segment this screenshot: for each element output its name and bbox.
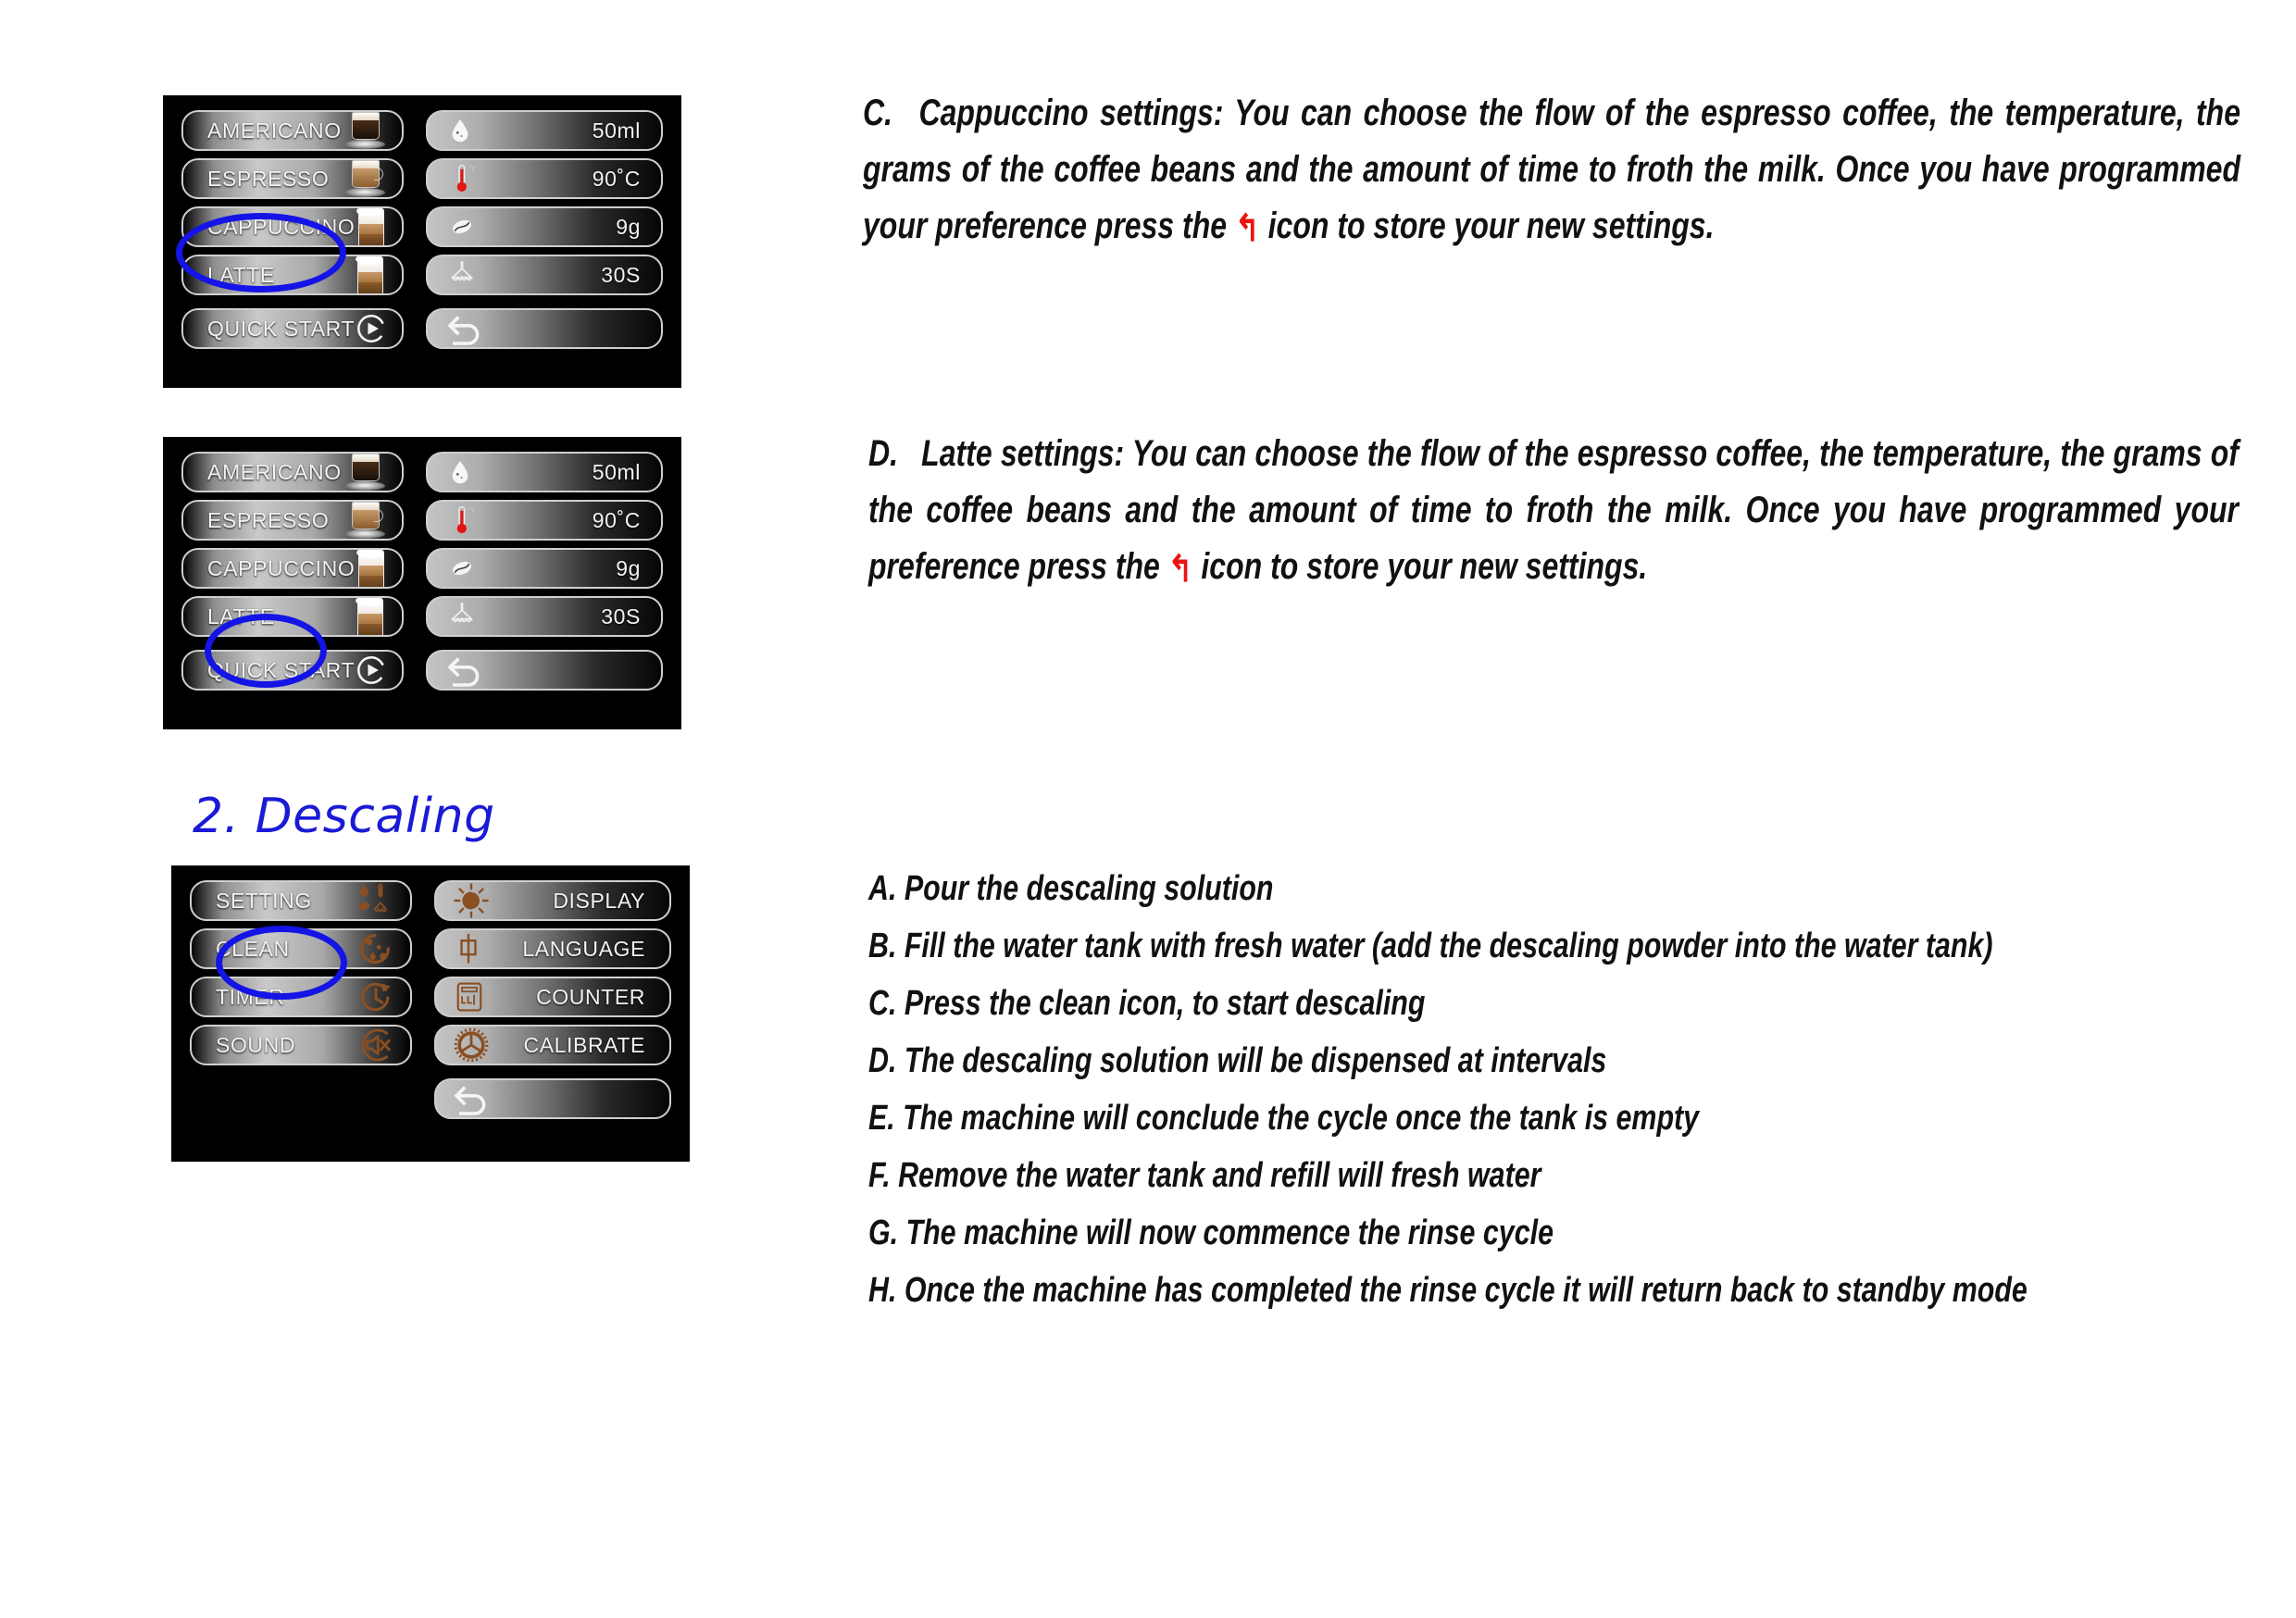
settings-button-label: SOUND xyxy=(216,1033,295,1058)
menu-button-espresso[interactable]: ESPRESSO xyxy=(181,158,404,199)
coffee-menu-screen-latte[interactable]: AMERICANOESPRESSOCAPPUCCINOLATTEQUICK ST… xyxy=(163,437,681,729)
settings-button-calibrate[interactable]: CALIBRATE xyxy=(434,1025,671,1065)
menu-button-espresso[interactable]: ESPRESSO xyxy=(181,500,404,541)
coffee-bean-icon xyxy=(446,215,478,239)
water-drop-icon xyxy=(446,458,474,486)
clean-swirl-icon xyxy=(356,930,393,967)
menu-button-latte[interactable]: LATTE xyxy=(181,596,404,637)
menu-button-label: ESPRESSO xyxy=(207,167,329,192)
thermometer-icon: °c xyxy=(446,163,478,194)
play-icon xyxy=(355,312,388,345)
setting-value: 9g xyxy=(616,556,641,581)
espresso-cup-icon xyxy=(344,500,385,541)
descaling-step: G. The machine will now commence the rin… xyxy=(868,1205,2128,1263)
descaling-step: B. Fill the water tank with fresh water … xyxy=(868,918,2128,976)
setting-button-water-drop[interactable]: 50ml xyxy=(426,452,663,492)
menu-button-label: QUICK START xyxy=(207,658,355,683)
menu-button-americano[interactable]: AMERICANO xyxy=(181,452,404,492)
settings-menu-screen[interactable]: SETTINGCLEANTIMERSOUNDDISPLAYLANGUAGECOU… xyxy=(171,865,690,1162)
menu-button-label: AMERICANO xyxy=(207,460,342,485)
menu-button-label: CAPPUCCINO xyxy=(207,215,355,240)
setting-button-coffee-bean[interactable]: 9g xyxy=(426,206,663,247)
menu-button-americano[interactable]: AMERICANO xyxy=(181,110,404,151)
descaling-step: E. The machine will conclude the cycle o… xyxy=(868,1090,2128,1148)
menu-button-label: QUICK START xyxy=(207,317,355,342)
page-heading-descaling: 2. Descaling xyxy=(193,789,495,844)
setting-button-thermometer[interactable]: °c90˚C xyxy=(426,158,663,199)
settings-button-sound[interactable]: SOUND xyxy=(190,1025,412,1065)
settings-button-label: TIMER xyxy=(216,985,285,1010)
return-arrow-icon xyxy=(446,652,483,689)
play-icon xyxy=(355,653,388,687)
back-button[interactable] xyxy=(426,308,663,349)
cappuccino-glass-icon xyxy=(355,548,386,589)
setting-button-water-drop[interactable]: 50ml xyxy=(426,110,663,151)
paragraph-d-text-after-icon: icon to store your new settings. xyxy=(1193,546,1648,587)
menu-button-label: LATTE xyxy=(207,604,275,629)
settings-button-setting[interactable]: SETTING xyxy=(190,880,412,921)
setting-value: 30S xyxy=(601,263,641,288)
svg-text:°c: °c xyxy=(468,164,475,172)
milk-froth-icon xyxy=(446,601,478,632)
setting-button-coffee-bean[interactable]: 9g xyxy=(426,548,663,589)
return-arrow-icon: ↰ xyxy=(1168,541,1193,598)
menu-button-label: LATTE xyxy=(207,263,275,288)
descaling-step: D. The descaling solution will be dispen… xyxy=(868,1033,2128,1090)
language-zhong-icon xyxy=(453,932,484,965)
settings-button-label: CLEAN xyxy=(216,937,290,962)
settings-button-label: LANGUAGE xyxy=(522,937,653,962)
menu-button-label: ESPRESSO xyxy=(207,508,329,533)
settings-button-label: COUNTER xyxy=(536,985,653,1010)
latte-glass-icon xyxy=(354,596,385,637)
milk-froth-icon xyxy=(446,259,478,291)
setting-value: 50ml xyxy=(593,118,641,143)
setting-button-milk-froth[interactable]: 30S xyxy=(426,255,663,295)
menu-button-cappuccino[interactable]: CAPPUCCINO xyxy=(181,548,404,589)
settings-button-language[interactable]: LANGUAGE xyxy=(434,928,671,969)
svg-text:°c: °c xyxy=(468,505,475,514)
timer-clock-icon xyxy=(358,979,393,1014)
menu-button-quick-start[interactable]: QUICK START xyxy=(181,308,404,349)
latte-glass-icon xyxy=(354,255,385,295)
descaling-step: H. Once the machine has completed the ri… xyxy=(868,1263,2128,1320)
return-arrow-icon xyxy=(453,1080,490,1117)
setting-value: 9g xyxy=(616,215,641,240)
paragraph-cappuccino-settings: C. Cappuccino settings: You can choose t… xyxy=(863,85,2240,254)
counter-calculator-icon xyxy=(453,978,486,1015)
setting-value: 50ml xyxy=(593,460,641,485)
menu-button-quick-start[interactable]: QUICK START xyxy=(181,650,404,691)
descaling-step-list: A. Pour the descaling solutionB. Fill th… xyxy=(868,861,2128,1320)
settings-button-label: DISPLAY xyxy=(553,889,653,914)
setting-button-milk-froth[interactable]: 30S xyxy=(426,596,663,637)
paragraph-latte-settings: D. Latte settings: You can choose the fl… xyxy=(868,426,2239,594)
cappuccino-glass-icon xyxy=(355,206,386,247)
brew-parameters-icon xyxy=(355,883,393,918)
settings-button-timer[interactable]: TIMER xyxy=(190,977,412,1017)
return-arrow-icon: ↰ xyxy=(1235,201,1260,257)
brightness-sun-icon xyxy=(453,882,490,919)
settings-button-counter[interactable]: COUNTER xyxy=(434,977,671,1017)
back-button[interactable] xyxy=(426,650,663,691)
americano-cup-icon xyxy=(344,110,385,151)
settings-button-label: SETTING xyxy=(216,889,312,914)
menu-button-label: AMERICANO xyxy=(207,118,342,143)
settings-button-label: CALIBRATE xyxy=(523,1033,653,1058)
return-arrow-icon xyxy=(446,310,483,347)
back-button[interactable] xyxy=(434,1078,671,1119)
setting-value: 90˚C xyxy=(593,508,641,533)
thermometer-icon: °c xyxy=(446,504,478,536)
descaling-step: C. Press the clean icon, to start descal… xyxy=(868,976,2128,1033)
settings-button-clean[interactable]: CLEAN xyxy=(190,928,412,969)
coffee-bean-icon xyxy=(446,556,478,580)
menu-button-label: CAPPUCCINO xyxy=(207,556,355,581)
setting-button-thermometer[interactable]: °c90˚C xyxy=(426,500,663,541)
paragraph-c-text-after-icon: icon to store your new settings. xyxy=(1260,205,1715,246)
setting-value: 90˚C xyxy=(593,167,641,192)
coffee-menu-screen-cappuccino[interactable]: AMERICANOESPRESSOCAPPUCCINOLATTEQUICK ST… xyxy=(163,95,681,388)
calibrate-gear-icon xyxy=(453,1027,490,1064)
descaling-step: A. Pour the descaling solution xyxy=(868,861,2128,918)
descaling-step: F. Remove the water tank and refill will… xyxy=(868,1148,2128,1205)
americano-cup-icon xyxy=(344,452,385,492)
menu-button-latte[interactable]: LATTE xyxy=(181,255,404,295)
settings-button-display[interactable]: DISPLAY xyxy=(434,880,671,921)
water-drop-icon xyxy=(446,117,474,144)
sound-mute-icon xyxy=(356,1027,393,1064)
espresso-cup-icon xyxy=(344,158,385,199)
menu-button-cappuccino[interactable]: CAPPUCCINO xyxy=(181,206,404,247)
setting-value: 30S xyxy=(601,604,641,629)
